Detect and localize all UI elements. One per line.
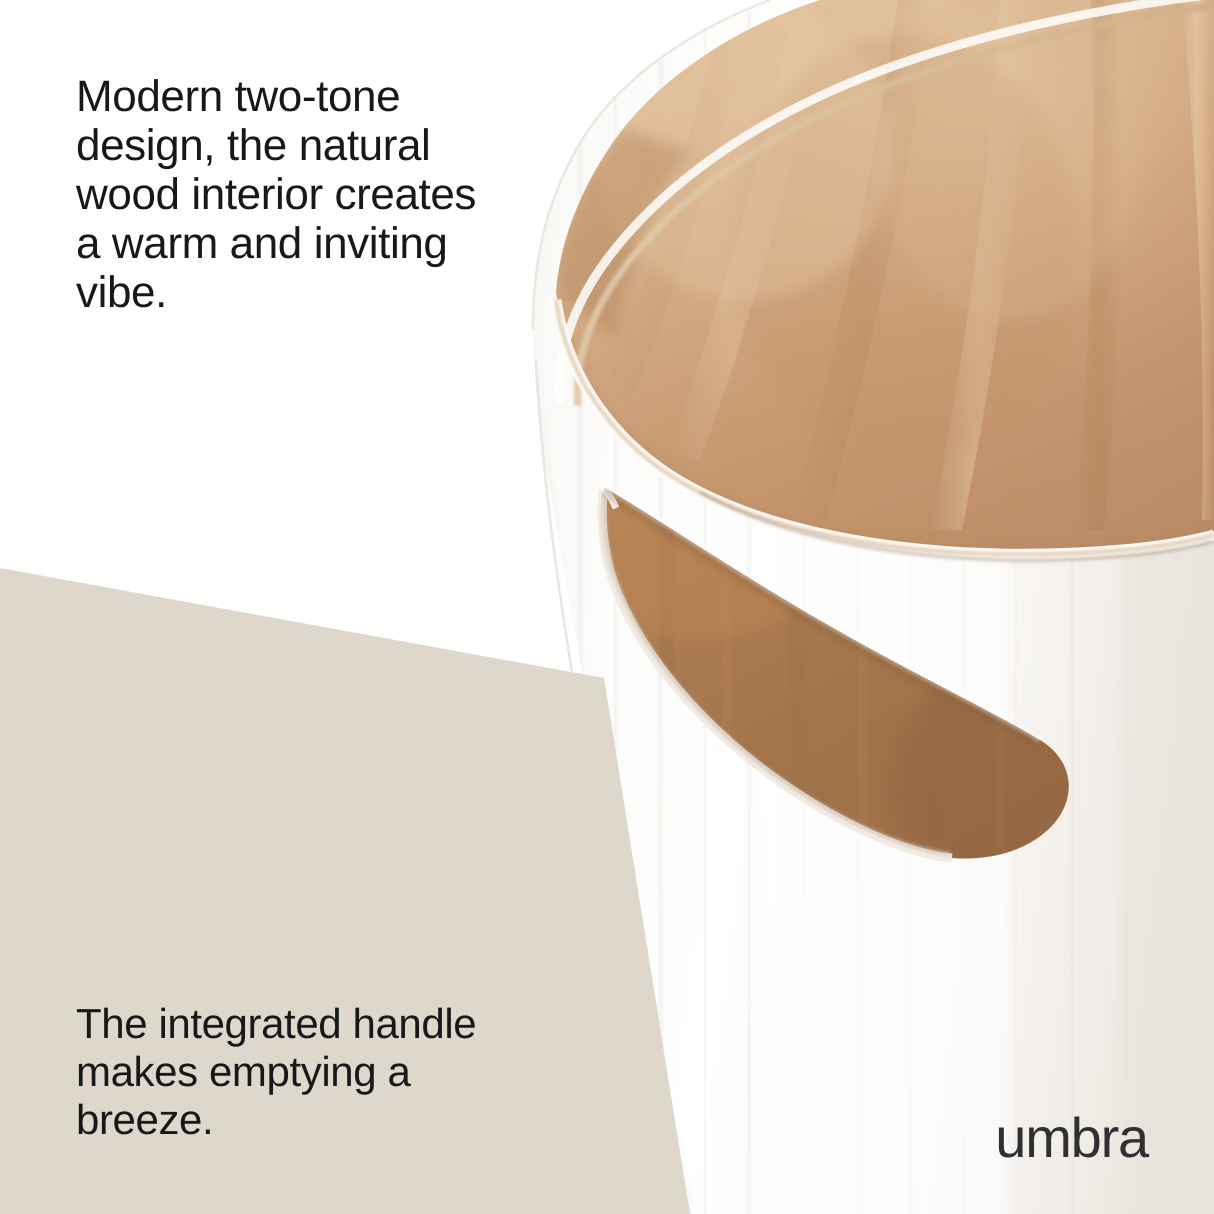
umbra-brand-logo: umbra (995, 1110, 1148, 1166)
callout-text-bottom: The integrated handle makes emptying a b… (76, 1000, 506, 1144)
callout-text-top: Modern two-tone design, the natural wood… (76, 72, 496, 317)
product-marketing-canvas: Modern two-tone design, the natural wood… (0, 0, 1214, 1214)
